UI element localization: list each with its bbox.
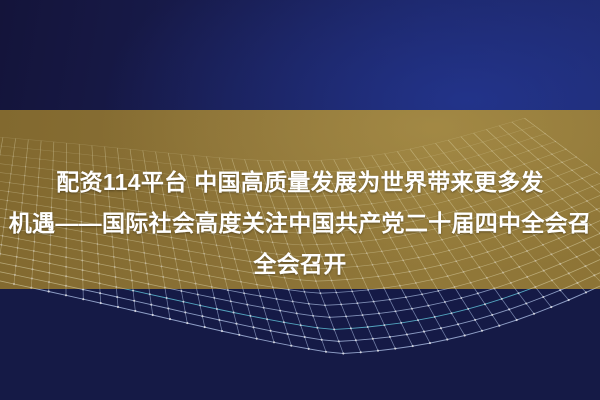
- mesh-clip-bottom: [0, 289, 600, 400]
- headline-line-3: 全会召开: [0, 244, 600, 285]
- banner-headline: 配资114平台 中国高质量发展为世界带来更多发 机遇——国际社会高度关注中国共产…: [0, 162, 600, 285]
- mesh-clip-top: [0, 0, 600, 110]
- wireframe-mesh-icon: [0, 0, 600, 110]
- banner-image: 配资114平台 中国高质量发展为世界带来更多发 机遇——国际社会高度关注中国共产…: [0, 0, 600, 400]
- headline-line-1: 配资114平台 中国高质量发展为世界带来更多发: [0, 162, 600, 203]
- wireframe-mesh-lower-icon: [0, 289, 600, 400]
- headline-line-2: 机遇——国际社会高度关注中国共产党二十届四中全会召: [0, 203, 600, 244]
